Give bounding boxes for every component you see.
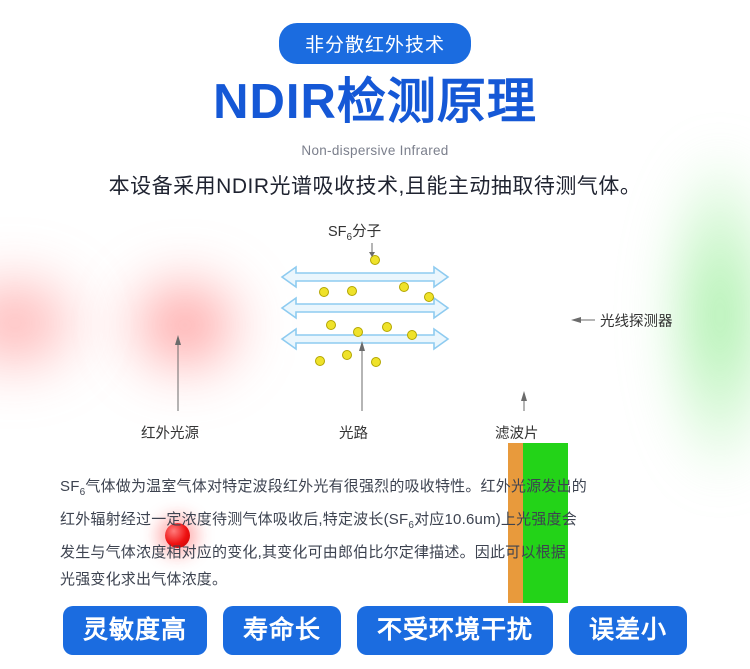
light-path-arrows <box>282 267 448 349</box>
light-path-leader-line <box>359 341 365 411</box>
feature-pill-error[interactable]: 误差小 <box>569 606 687 655</box>
caption-filter: 滤波片 <box>495 422 539 443</box>
caption-detector: 光线探测器 <box>600 310 673 331</box>
para-line1: 气体做为温室气体对特定波段红外光有很强烈的吸收特性。红外光源发出的 <box>85 478 587 495</box>
feature-pill-row: 灵敏度高 寿命长 不受环境干扰 误差小 <box>0 606 750 655</box>
detector-leader-line <box>571 317 595 323</box>
para-line2a: 红外辐射经过一定浓度待测气体吸收后,特定波长(SF <box>60 511 408 528</box>
ir-source-leader-line <box>175 335 181 411</box>
lead-text: 本设备采用NDIR光谱吸收技术,且能主动抽取待测气体。 <box>0 170 750 200</box>
page-title: NDIR检测原理 <box>0 76 750 130</box>
para-sf6: SF <box>60 478 80 495</box>
sf6-molecule-label: SF6分子 <box>328 220 381 243</box>
para-line4: 光强变化求出气体浓度。 <box>60 571 227 588</box>
feature-pill-lifetime[interactable]: 寿命长 <box>223 606 341 655</box>
section-badge: 非分散红外技术 <box>279 23 471 64</box>
filter-leader-line <box>521 391 527 411</box>
feature-pill-interference[interactable]: 不受环境干扰 <box>357 606 553 655</box>
feature-pill-sensitivity[interactable]: 灵敏度高 <box>63 606 207 655</box>
para-line3: 发生与气体浓度相对应的变化,其变化可由郎伯比尔定律描述。因此可以根据 <box>60 544 566 561</box>
caption-ir-source: 红外光源 <box>141 422 199 443</box>
para-line2b: 对应10.6um)上光强度会 <box>414 511 577 528</box>
page-subtitle: Non-dispersive Infrared <box>0 143 750 158</box>
molecule-leader-line <box>369 243 375 257</box>
caption-light-path: 光路 <box>339 422 368 443</box>
description-paragraph: SF6气体做为温室气体对特定波段红外光有很强烈的吸收特性。红外光源发出的 红外辐… <box>60 473 700 593</box>
